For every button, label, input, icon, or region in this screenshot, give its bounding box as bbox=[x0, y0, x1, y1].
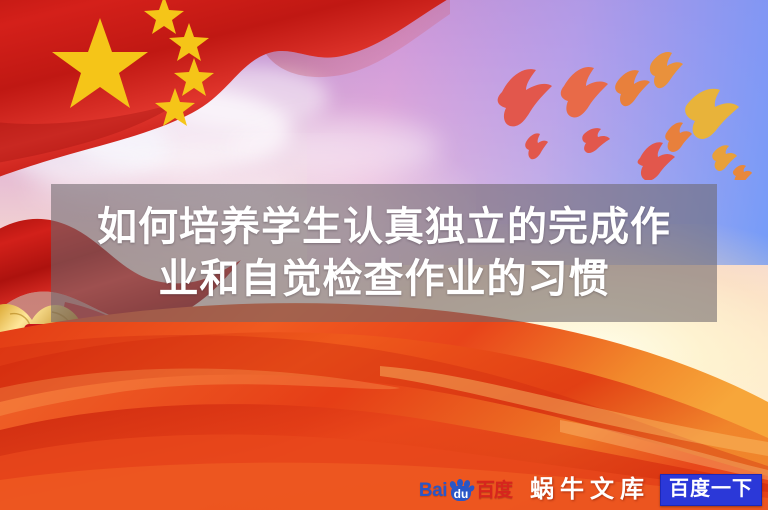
baidu-chinese-text: 百度 bbox=[476, 481, 512, 500]
footer-watermark-bar: Bai du 百度 蜗牛文库 百度一下 bbox=[0, 470, 768, 510]
title-overlay: 如何培养学生认真独立的完成作 业和自觉检查作业的习惯 bbox=[51, 184, 717, 322]
title-line-2: 业和自觉检查作业的习惯 bbox=[159, 253, 610, 305]
baidu-latin-text: Bai bbox=[419, 481, 447, 500]
title-line-1: 如何培养学生认真独立的完成作 bbox=[97, 201, 671, 253]
baidu-paw-label: du bbox=[448, 486, 474, 501]
site-watermark-text: 蜗牛文库 bbox=[530, 478, 650, 502]
baidu-paw-icon: du bbox=[448, 479, 474, 501]
baidu-logo[interactable]: Bai du 百度 bbox=[419, 479, 512, 501]
baidu-search-button[interactable]: 百度一下 bbox=[660, 474, 762, 506]
flying-doves-icon bbox=[480, 40, 768, 180]
poster-canvas: 如何培养学生认真独立的完成作 业和自觉检查作业的习惯 Bai du 百度 蜗牛文… bbox=[0, 0, 768, 510]
